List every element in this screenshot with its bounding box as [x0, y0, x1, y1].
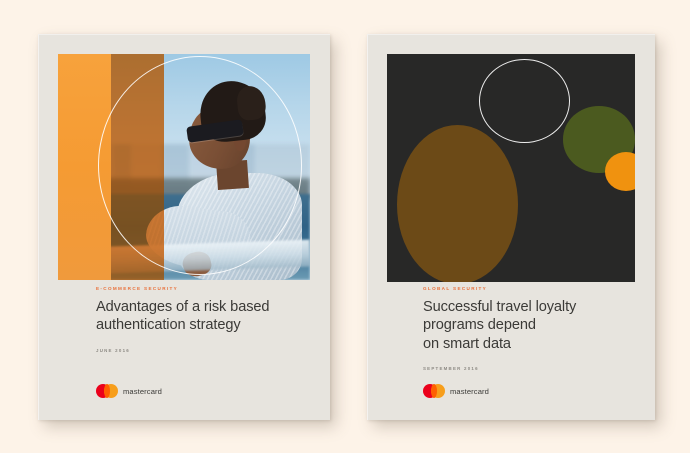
title-line-2: authentication strategy	[96, 317, 241, 333]
cover-artwork-photo	[58, 54, 310, 280]
white-circle-outline-icon	[479, 59, 570, 143]
cover-date: JUNE 2016	[96, 348, 310, 353]
cover-date: SEPTEMBER 2016	[423, 366, 635, 371]
title-line-1: Successful travel loyalty	[423, 299, 576, 315]
mastercard-mark-icon	[423, 384, 445, 398]
cover-eyebrow: GLOBAL SECURITY	[423, 286, 635, 291]
page-title: Successful travel loyaltyprograms depend…	[423, 298, 635, 353]
small-orange-circle-icon	[605, 152, 635, 191]
mastercard-wordmark: mastercard	[450, 387, 489, 396]
mastercard-overlap	[431, 384, 437, 398]
mastercard-logo: mastercard	[96, 384, 162, 398]
cover-artwork-abstract	[387, 54, 635, 282]
title-line-3: on smart data	[423, 336, 511, 352]
orange-accent-band-2-tint	[111, 54, 164, 280]
mastercard-mark-icon	[96, 384, 118, 398]
cover-eyebrow: E-COMMERCE SECURITY	[96, 286, 310, 291]
report-cover-left[interactable]: E-COMMERCE SECURITY Advantages of a risk…	[38, 34, 330, 420]
page-title: Advantages of a risk basedauthentication…	[96, 298, 310, 335]
orange-accent-band-1	[58, 54, 111, 280]
mastercard-logo: mastercard	[423, 384, 489, 398]
waterfront-photograph	[58, 54, 310, 280]
report-cover-right[interactable]: GLOBAL SECURITY Successful travel loyalt…	[367, 34, 655, 420]
mastercard-overlap	[104, 384, 110, 398]
title-line-1: Advantages of a risk based	[96, 299, 269, 315]
large-brown-circle-icon	[397, 125, 519, 282]
title-line-2: programs depend	[423, 317, 536, 333]
report-covers-scene: E-COMMERCE SECURITY Advantages of a risk…	[0, 0, 690, 453]
cover-text-block-right: GLOBAL SECURITY Successful travel loyalt…	[423, 286, 635, 371]
mastercard-wordmark: mastercard	[123, 387, 162, 396]
cover-text-block-left: E-COMMERCE SECURITY Advantages of a risk…	[96, 286, 310, 353]
abstract-circles-graphic	[387, 54, 635, 282]
